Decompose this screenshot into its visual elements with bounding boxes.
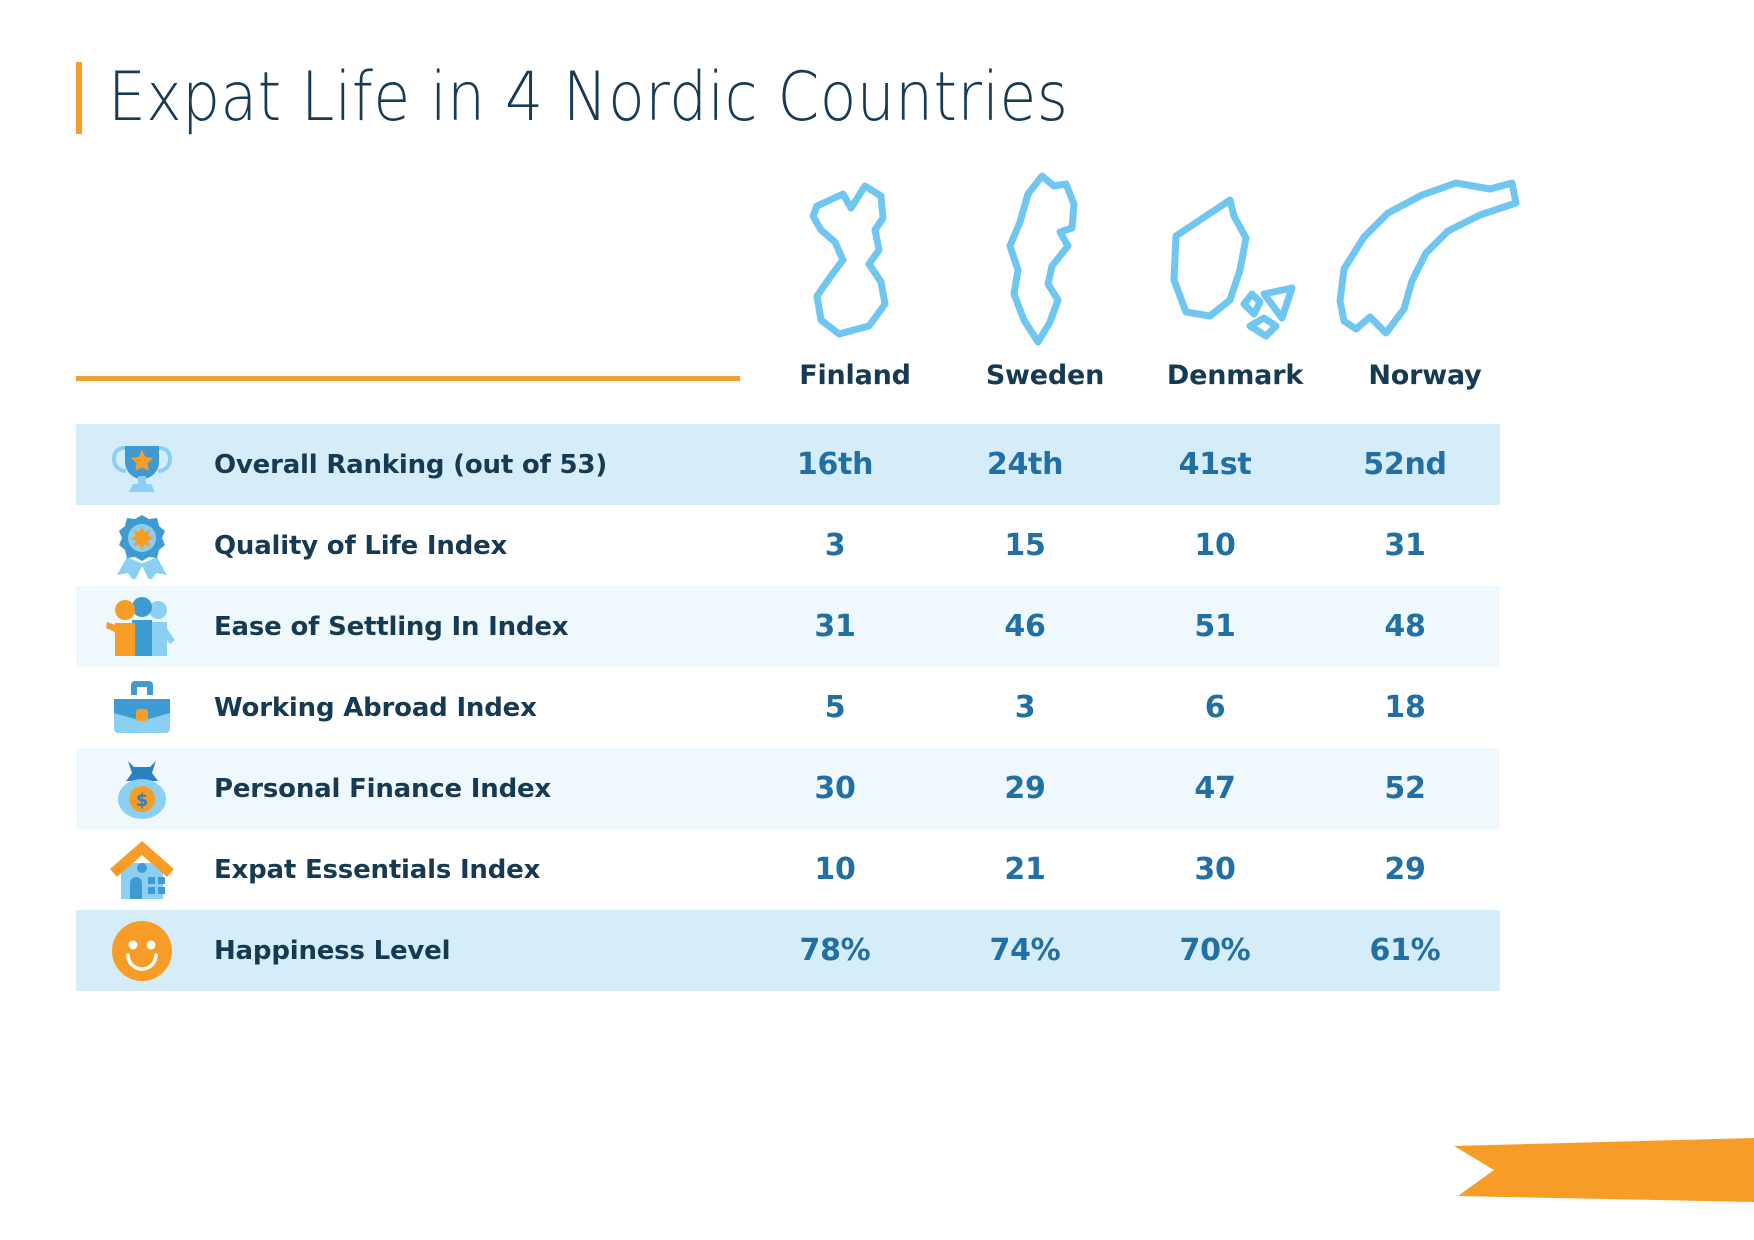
value-denmark: 41st xyxy=(1120,447,1310,482)
value-sweden: 24th xyxy=(930,447,1120,482)
row-label: Ease of Settling In Index xyxy=(208,612,740,642)
value-sweden: 21 xyxy=(930,852,1120,887)
value-sweden: 3 xyxy=(930,690,1120,725)
row-values: 16th 24th 41st 52nd xyxy=(740,424,1500,505)
value-norway: 29 xyxy=(1310,852,1500,887)
table-row: Ease of Settling In Index 31 46 51 48 xyxy=(76,586,1500,667)
trophy-icon xyxy=(76,424,208,505)
award-badge-icon xyxy=(76,505,208,586)
title-text: Expat Life in 4 Nordic Countries xyxy=(108,58,1068,137)
value-sweden: 74% xyxy=(930,933,1120,968)
value-denmark: 6 xyxy=(1120,690,1310,725)
value-denmark: 10 xyxy=(1120,528,1310,563)
row-label: Expat Essentials Index xyxy=(208,855,740,885)
table-row: Overall Ranking (out of 53) 16th 24th 41… xyxy=(76,424,1500,505)
value-sweden: 46 xyxy=(930,609,1120,644)
row-label: Overall Ranking (out of 53) xyxy=(208,450,740,480)
value-finland: 16th xyxy=(740,447,930,482)
value-sweden: 15 xyxy=(930,528,1120,563)
table-row: Happiness Level 78% 74% 70% 61% xyxy=(76,910,1500,991)
row-values: 3 15 10 31 xyxy=(740,505,1500,586)
map-norway xyxy=(1330,168,1520,348)
row-values: 10 21 30 29 xyxy=(740,829,1500,910)
money-bag-icon: $ xyxy=(76,748,208,829)
column-header-finland: Finland xyxy=(760,360,950,404)
value-norway: 52nd xyxy=(1310,447,1500,482)
people-icon xyxy=(76,586,208,667)
country-maps-row xyxy=(760,168,1520,348)
column-header-norway: Norway xyxy=(1330,360,1520,404)
row-label: Quality of Life Index xyxy=(208,531,740,561)
smiley-icon xyxy=(76,910,208,991)
column-header-sweden: Sweden xyxy=(950,360,1140,404)
table-row: $ Personal Finance Index 30 29 47 52 xyxy=(76,748,1500,829)
value-norway: 61% xyxy=(1310,933,1500,968)
value-finland: 31 xyxy=(740,609,930,644)
map-denmark xyxy=(1140,168,1330,348)
table-header-row: Finland Sweden Denmark Norway xyxy=(760,360,1520,404)
table-row: Working Abroad Index 5 3 6 18 xyxy=(76,667,1500,748)
value-norway: 18 xyxy=(1310,690,1500,725)
row-values: 78% 74% 70% 61% xyxy=(740,910,1500,991)
map-sweden xyxy=(950,168,1140,348)
header-divider-rule xyxy=(76,376,740,381)
comparison-table: Overall Ranking (out of 53) 16th 24th 41… xyxy=(76,424,1500,991)
value-norway: 31 xyxy=(1310,528,1500,563)
row-values: 5 3 6 18 xyxy=(740,667,1500,748)
row-values: 31 46 51 48 xyxy=(740,586,1500,667)
value-denmark: 70% xyxy=(1120,933,1310,968)
row-values: 30 29 47 52 xyxy=(740,748,1500,829)
value-denmark: 47 xyxy=(1120,771,1310,806)
map-finland xyxy=(760,168,950,348)
value-finland: 30 xyxy=(740,771,930,806)
value-denmark: 30 xyxy=(1120,852,1310,887)
value-finland: 10 xyxy=(740,852,930,887)
row-label: Happiness Level xyxy=(208,936,740,966)
value-sweden: 29 xyxy=(930,771,1120,806)
table-row: Quality of Life Index 3 15 10 31 xyxy=(76,505,1500,586)
page-title: Expat Life in 4 Nordic Countries xyxy=(76,58,1199,137)
house-icon xyxy=(76,829,208,910)
svg-text:$: $ xyxy=(136,790,149,811)
value-finland: 5 xyxy=(740,690,930,725)
ribbon-decoration xyxy=(1454,1138,1754,1204)
column-header-denmark: Denmark xyxy=(1140,360,1330,404)
row-label: Personal Finance Index xyxy=(208,774,740,804)
value-norway: 48 xyxy=(1310,609,1500,644)
row-label: Working Abroad Index xyxy=(208,693,740,723)
value-finland: 3 xyxy=(740,528,930,563)
table-row: Expat Essentials Index 10 21 30 29 xyxy=(76,829,1500,910)
value-denmark: 51 xyxy=(1120,609,1310,644)
briefcase-icon xyxy=(76,667,208,748)
value-finland: 78% xyxy=(740,933,930,968)
value-norway: 52 xyxy=(1310,771,1500,806)
title-accent-bar xyxy=(76,62,82,134)
